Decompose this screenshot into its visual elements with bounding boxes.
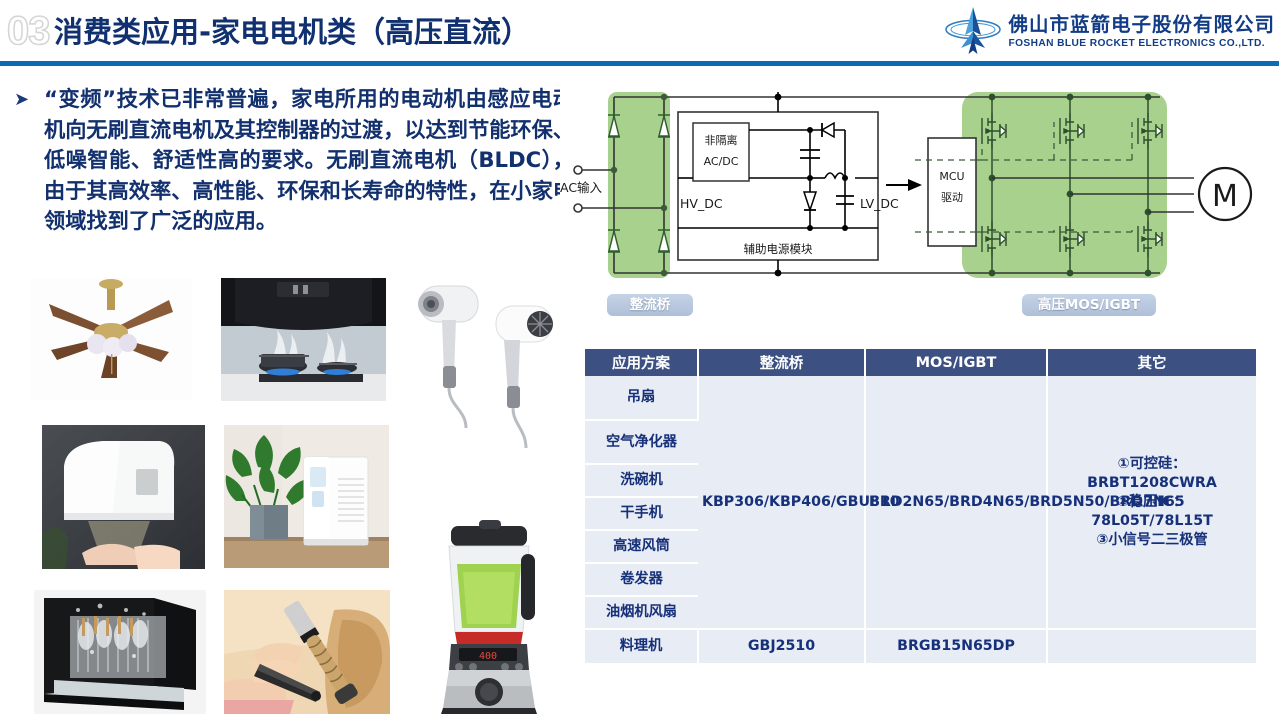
slide-root: 03 消费类应用-家电电机类（高压直流） 佛山市蓝箭电子股份有限公司 FOSHA… [0, 0, 1279, 720]
hv-dc-label: HV_DC [680, 196, 723, 211]
col-header-application: 应用方案 [585, 349, 698, 376]
application-solution-table: 应用方案 整流桥 MOS/IGBT 其它 吊扇 KBP306/KBP406/GB… [585, 349, 1256, 663]
ac-input-label: AC输入 [560, 180, 603, 195]
cell-mos-igbt-merged: BRD2N65/BRD4N65/BRD5N50/BRD7N65 [865, 376, 1047, 629]
col-header-other: 其它 [1047, 349, 1256, 376]
photo-hair-curler [224, 590, 390, 714]
blue-rocket-logo-icon [944, 6, 1002, 56]
company-name-en: FOSHAN BLUE ROCKET ELECTRONICS CO.,LTD. [1008, 37, 1275, 50]
svg-text:非隔离: 非隔离 [705, 133, 738, 147]
header-divider [0, 61, 1279, 66]
company-logo: 佛山市蓝箭电子股份有限公司 FOSHAN BLUE ROCKET ELECTRO… [944, 5, 1275, 57]
svg-text:AC/DC: AC/DC [704, 155, 739, 168]
cell-other-empty [1047, 629, 1256, 663]
svg-text:400: 400 [479, 651, 497, 662]
svg-text:驱动: 驱动 [941, 191, 963, 204]
photo-blender: 400 [417, 520, 567, 716]
page-title: 消费类应用-家电电机类（高压直流） [54, 12, 530, 52]
table-header-row: 应用方案 整流桥 MOS/IGBT 其它 [585, 349, 1256, 376]
cell-application: 洗碗机 [585, 464, 698, 497]
table-row-last: 料理机 GBJ2510 BRGB15N65DP [585, 629, 1256, 663]
cell-rectifier: GBJ2510 [698, 629, 865, 663]
cell-application: 干手机 [585, 497, 698, 530]
acdc-box [693, 123, 749, 181]
cell-application: 料理机 [585, 629, 698, 663]
bldc-circuit-diagram: AC输入 辅助电源模块 非隔离 AC/DC [560, 80, 1279, 325]
photo-air-purifier [224, 425, 389, 568]
photo-dishwasher [34, 590, 206, 714]
bullet-arrow-icon: ➤ [14, 90, 29, 108]
col-header-rectifier: 整流桥 [698, 349, 865, 376]
slide-header: 03 消费类应用-家电电机类（高压直流） 佛山市蓝箭电子股份有限公司 FOSHA… [0, 0, 1279, 66]
cell-application: 卷发器 [585, 563, 698, 596]
company-name-block: 佛山市蓝箭电子股份有限公司 FOSHAN BLUE ROCKET ELECTRO… [1008, 13, 1275, 50]
svg-text:M: M [1212, 179, 1238, 214]
cell-application: 油烟机风扇 [585, 596, 698, 629]
cell-rectifier-merged: KBP306/KBP406/GBU810 [698, 376, 865, 629]
cell-application: 高速风筒 [585, 530, 698, 563]
photo-range-hood [221, 278, 386, 401]
cell-application: 空气净化器 [585, 420, 698, 464]
aux-module-label: 辅助电源模块 [744, 242, 813, 256]
col-header-mos-igbt: MOS/IGBT [865, 349, 1047, 376]
photo-hand-dryer [42, 425, 205, 569]
cell-application: 吊扇 [585, 376, 698, 420]
intro-paragraph-block: ➤ “变频”技术已非常普遍，家电所用的电动机由感应电动机向无刷直流电机及其控制器… [14, 84, 574, 237]
photo-hair-dryers [406, 276, 578, 458]
lv-dc-label: LV_DC [860, 196, 899, 211]
svg-text:MCU: MCU [939, 170, 964, 183]
label-rectifier-bridge: 整流桥 [607, 294, 693, 316]
section-number: 03 [7, 8, 50, 54]
cell-mos-igbt: BRGB15N65DP [865, 629, 1047, 663]
table-row: 吊扇 KBP306/KBP406/GBU810 BRD2N65/BRD4N65/… [585, 376, 1256, 420]
company-name-cn: 佛山市蓝箭电子股份有限公司 [1008, 13, 1275, 37]
intro-paragraph: “变频”技术已非常普遍，家电所用的电动机由感应电动机向无刷直流电机及其控制器的过… [44, 84, 574, 237]
label-high-voltage-mos-igbt: 高压MOS/IGBT [1022, 294, 1156, 316]
photo-ceiling-fan [30, 278, 192, 400]
